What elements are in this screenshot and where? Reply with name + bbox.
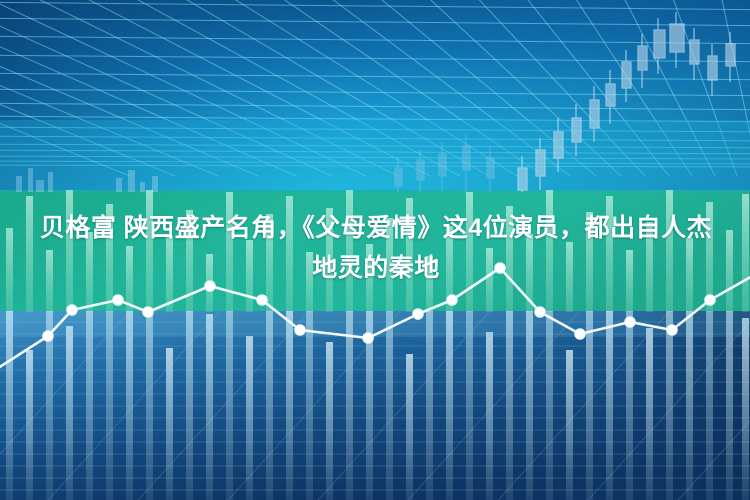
trend-line-layer xyxy=(0,0,750,500)
trend-line-chart xyxy=(0,263,750,372)
trend-line-path xyxy=(0,268,750,372)
promo-banner: 贝格富 陕西盛产名角，《父母爱情》这4位演员，都出自人杰 地灵的秦地 xyxy=(0,0,750,500)
